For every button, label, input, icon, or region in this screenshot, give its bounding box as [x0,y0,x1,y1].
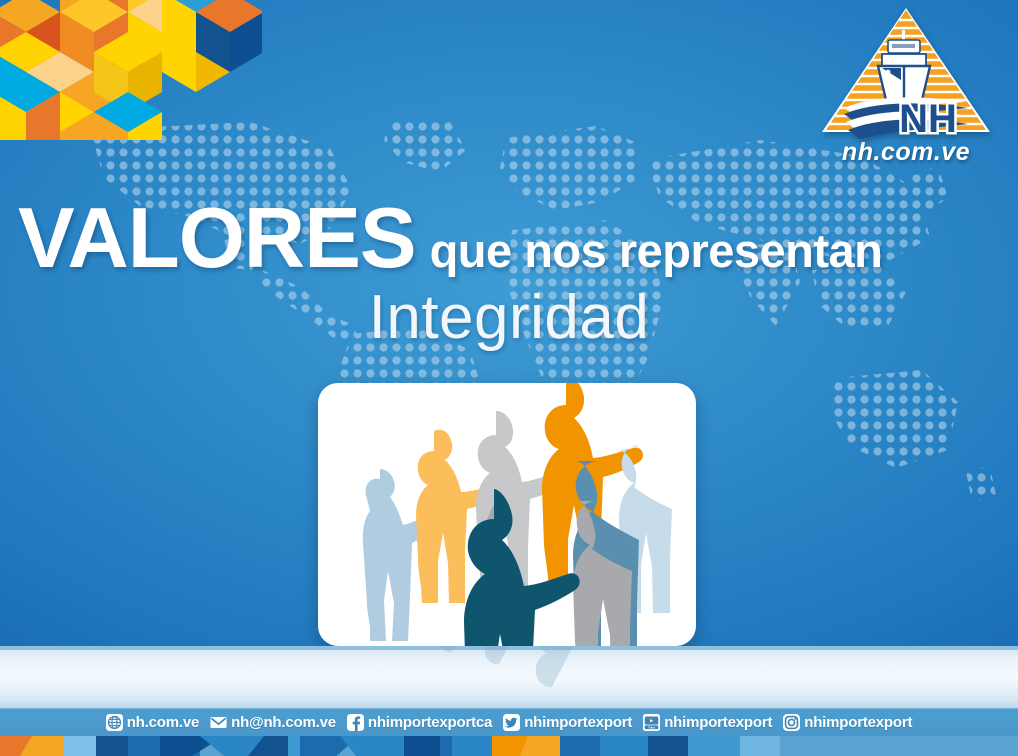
subtitle-value: Integridad [0,282,1018,353]
globe-icon [106,714,123,731]
youtube-icon: Tube [643,714,660,731]
social-item-instagram[interactable]: nhimportexport [783,714,912,731]
social-item-twitter[interactable]: nhimportexport [503,714,632,731]
facebook-icon [347,714,364,731]
isometric-cube-decoration [0,0,262,140]
social-item-facebook[interactable]: nhimportexportca [347,714,492,731]
social-item-email[interactable]: nh@nh.com.ve [210,714,336,731]
mail-icon [210,714,227,731]
headline: VALORESque nos representan [18,196,1008,281]
ship-triangle-logo-icon: NH [816,4,996,144]
hero-reflection [318,646,696,704]
headline-main: VALORES [18,191,416,286]
social-bar: nh.com.ve nh@nh.com.ve nhimportexportca … [0,708,1018,736]
social-item-youtube[interactable]: Tube nhimportexport [643,714,772,731]
footer-band: Fnd SENIAT NH [0,646,1018,708]
hero-card [318,383,696,646]
social-label-facebook: nhimportexportca [368,714,492,731]
bottom-geometric-strip [0,736,1018,756]
social-label-twitter: nhimportexport [524,714,632,731]
social-label-website: nh.com.ve [127,714,199,731]
twitter-icon [503,714,520,731]
social-label-email: nh@nh.com.ve [231,714,336,731]
svg-text:NH: NH [899,97,957,141]
social-label-instagram: nhimportexport [804,714,912,731]
social-label-youtube: nhimportexport [664,714,772,731]
instagram-icon [783,714,800,731]
slide-canvas: NH nh.com.ve VALORESque nos representan … [0,0,1018,756]
teamwork-people-silhouettes-icon [318,383,696,646]
social-item-website[interactable]: nh.com.ve [106,714,199,731]
svg-text:Tube: Tube [648,725,655,729]
headline-sub: que nos representan [430,224,883,277]
company-logo[interactable]: NH nh.com.ve [816,4,996,174]
